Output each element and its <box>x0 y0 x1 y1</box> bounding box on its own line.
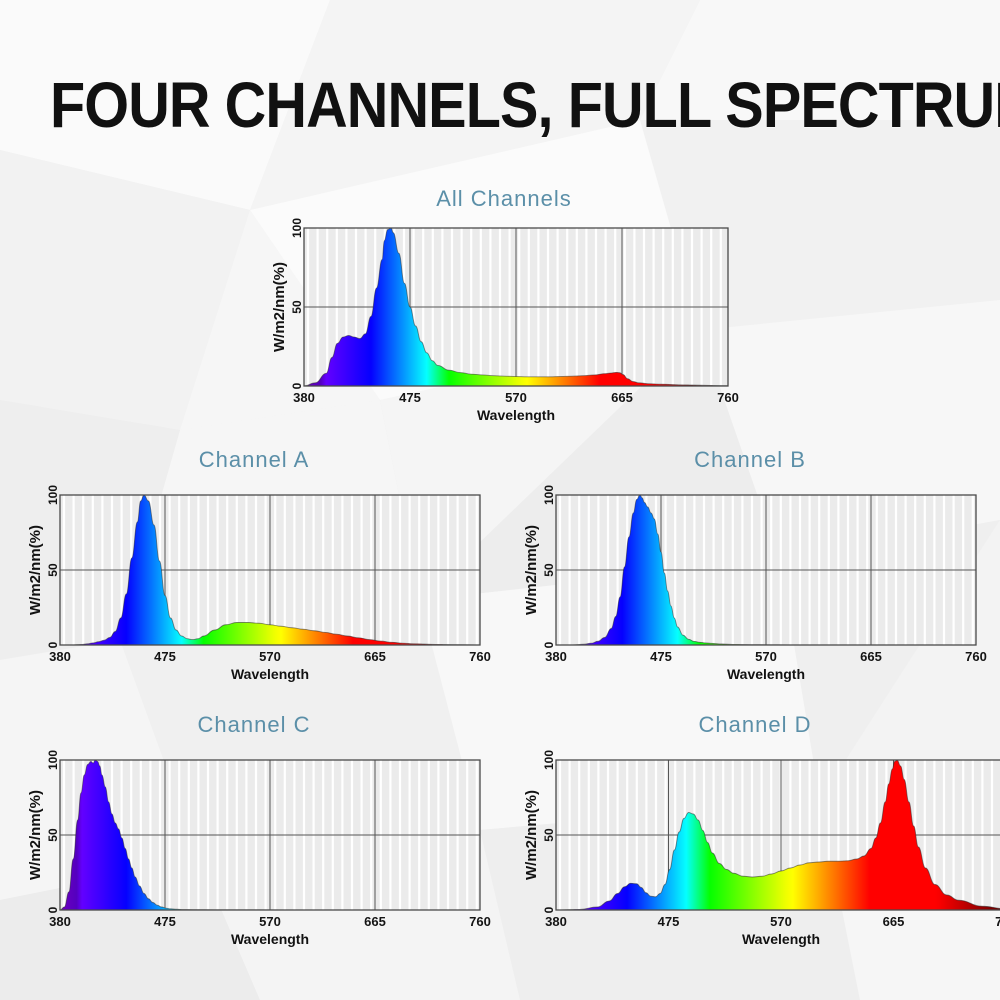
x-tick-label: 665 <box>364 649 386 664</box>
x-tick-label: 760 <box>469 914 491 929</box>
y-tick-label: 50 <box>542 563 556 577</box>
x-tick-label: 570 <box>770 914 792 929</box>
y-tick-label: 50 <box>542 828 556 842</box>
x-tick-label: 570 <box>505 390 527 405</box>
y-tick-label: 100 <box>46 750 60 770</box>
y-tick-label: 100 <box>290 218 304 238</box>
y-axis-label: W/m2/nm(%) <box>523 525 540 615</box>
chart-channel-b: Channel B050100W/m2/nm(%)380475570665760… <box>510 447 990 691</box>
y-axis-label: W/m2/nm(%) <box>27 525 44 615</box>
x-tick-label: 475 <box>154 649 176 664</box>
spectrum-plot-all-channels: 050100W/m2/nm(%)380475570665760Wavelengt… <box>268 186 740 432</box>
chart-channel-c: Channel C050100W/m2/nm(%)380475570665760… <box>14 712 494 956</box>
y-tick-label: 100 <box>542 485 556 505</box>
x-tick-label: 665 <box>364 914 386 929</box>
y-tick-label: 100 <box>46 485 60 505</box>
x-tick-label: 380 <box>545 914 567 929</box>
x-tick-label: 570 <box>259 914 281 929</box>
y-tick-label: 0 <box>542 641 556 648</box>
x-axis-label: Wavelength <box>742 931 820 947</box>
spectrum-plot-channel-d: 050100W/m2/nm(%)380475570665760Wavelengt… <box>510 712 1000 956</box>
y-tick-label: 0 <box>542 906 556 913</box>
x-tick-label: 665 <box>883 914 905 929</box>
x-tick-label: 475 <box>650 649 672 664</box>
x-tick-label: 380 <box>545 649 567 664</box>
spectrum-plot-channel-c: 050100W/m2/nm(%)380475570665760Wavelengt… <box>14 712 494 956</box>
spectrum-plot-channel-b: 050100W/m2/nm(%)380475570665760Wavelengt… <box>510 447 990 691</box>
x-tick-label: 475 <box>154 914 176 929</box>
x-axis-label: Wavelength <box>727 666 805 682</box>
y-tick-label: 50 <box>46 828 60 842</box>
y-tick-label: 0 <box>46 906 60 913</box>
x-tick-label: 760 <box>995 914 1000 929</box>
chart-channel-d: Channel D050100W/m2/nm(%)380475570665760… <box>510 712 1000 956</box>
y-tick-label: 50 <box>290 300 304 314</box>
x-axis-label: Wavelength <box>477 407 555 423</box>
x-tick-label: 760 <box>717 390 739 405</box>
x-tick-label: 475 <box>399 390 421 405</box>
y-tick-label: 0 <box>290 382 304 389</box>
x-tick-label: 570 <box>755 649 777 664</box>
chart-channel-a: Channel A050100W/m2/nm(%)380475570665760… <box>14 447 494 691</box>
x-tick-label: 760 <box>965 649 987 664</box>
spectrum-plot-channel-a: 050100W/m2/nm(%)380475570665760Wavelengt… <box>14 447 494 691</box>
page-title: FOUR CHANNELS, FULL SPECTRUM <box>50 68 950 142</box>
x-tick-label: 380 <box>49 649 71 664</box>
y-axis-label: W/m2/nm(%) <box>27 790 44 880</box>
x-tick-label: 760 <box>469 649 491 664</box>
x-tick-label: 380 <box>49 914 71 929</box>
x-tick-label: 570 <box>259 649 281 664</box>
x-axis-label: Wavelength <box>231 931 309 947</box>
y-tick-label: 50 <box>46 563 60 577</box>
y-tick-label: 100 <box>542 750 556 770</box>
y-axis-label: W/m2/nm(%) <box>523 790 540 880</box>
x-tick-label: 475 <box>658 914 680 929</box>
x-tick-label: 665 <box>611 390 633 405</box>
chart-all-channels: All Channels050100W/m2/nm(%)380475570665… <box>268 186 740 432</box>
x-tick-label: 665 <box>860 649 882 664</box>
x-tick-label: 380 <box>293 390 315 405</box>
x-axis-label: Wavelength <box>231 666 309 682</box>
y-tick-label: 0 <box>46 641 60 648</box>
y-axis-label: W/m2/nm(%) <box>271 262 288 352</box>
